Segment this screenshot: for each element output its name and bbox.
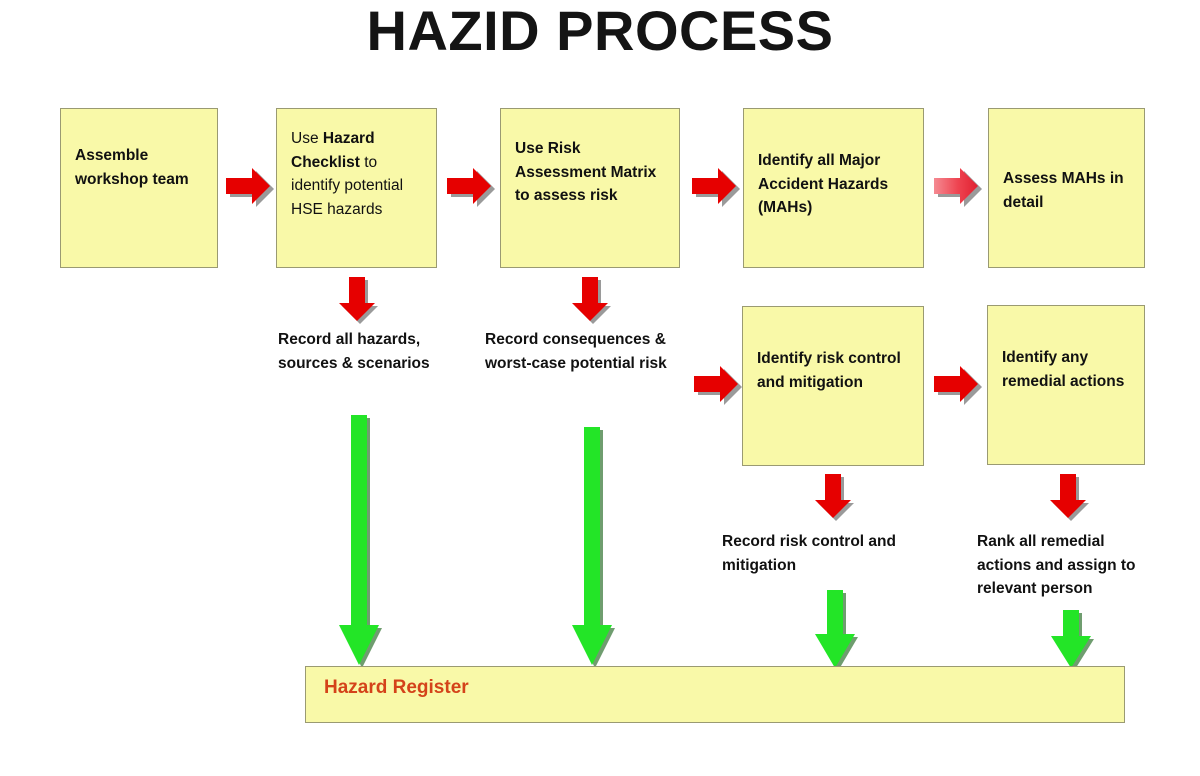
arrow-checklist-down — [332, 275, 382, 325]
arrow-consequences-to-risk-control — [690, 358, 742, 410]
process-box-identify-risk-control: Identify risk control and mitigation — [742, 306, 924, 466]
note-record-hazards: Record all hazards, sources & scenarios — [278, 328, 463, 375]
process-box-label: Assemble workshop team — [75, 144, 209, 191]
arrow-matrix-down — [565, 275, 615, 325]
process-box-risk-assessment-matrix: Use Risk Assessment Matrix to assess ris… — [500, 108, 680, 268]
process-box-assess-mahs-detail: Assess MAHs in detail — [988, 108, 1145, 268]
arrow-risk-control-down — [808, 472, 858, 522]
note-record-risk-control: Record risk control and mitigation — [722, 530, 922, 577]
arrow-consequences-to-register — [567, 425, 617, 669]
arrow-risk-control-to-register — [810, 588, 860, 672]
process-box-label: Identify all Major Accident Hazards (MAH… — [758, 149, 915, 220]
arrow-remedial-down — [1043, 472, 1093, 522]
arrow-matrix-to-mahs — [688, 160, 740, 212]
arrow-hazards-to-register — [334, 413, 384, 669]
arrow-mahs-to-assess — [930, 160, 982, 212]
process-box-label: Assess MAHs in detail — [1003, 167, 1136, 214]
process-box-hazard-checklist: Use Hazard Checklist to identify potenti… — [276, 108, 437, 268]
process-box-label: Use Risk Assessment Matrix to assess ris… — [515, 137, 671, 208]
process-box-label: Identify any remedial actions — [1002, 346, 1136, 393]
page-title: HAZID PROCESS — [0, 2, 1200, 61]
arrow-checklist-to-matrix — [443, 160, 495, 212]
note-record-consequences: Record consequences & worst-case potenti… — [485, 328, 695, 375]
hazid-process-diagram: HAZID PROCESS Assemble workshop team Use… — [0, 0, 1200, 776]
hazard-register-label: Hazard Register — [324, 677, 469, 699]
arrow-assemble-to-checklist — [222, 160, 274, 212]
process-box-identify-remedial-actions: Identify any remedial actions — [987, 305, 1145, 465]
note-rank-remedial-actions: Rank all remedial actions and assign to … — [977, 530, 1162, 601]
process-box-assemble-workshop-team: Assemble workshop team — [60, 108, 218, 268]
process-box-label: Identify risk control and mitigation — [757, 347, 915, 394]
label-prefix: Use — [291, 130, 323, 147]
process-box-identify-mahs: Identify all Major Accident Hazards (MAH… — [743, 108, 924, 268]
arrow-remedial-to-register — [1046, 608, 1096, 672]
hazard-register-box: Hazard Register — [305, 666, 1125, 723]
process-box-label: Use Hazard Checklist to identify potenti… — [291, 127, 428, 221]
arrow-risk-control-to-remedial — [930, 358, 982, 410]
